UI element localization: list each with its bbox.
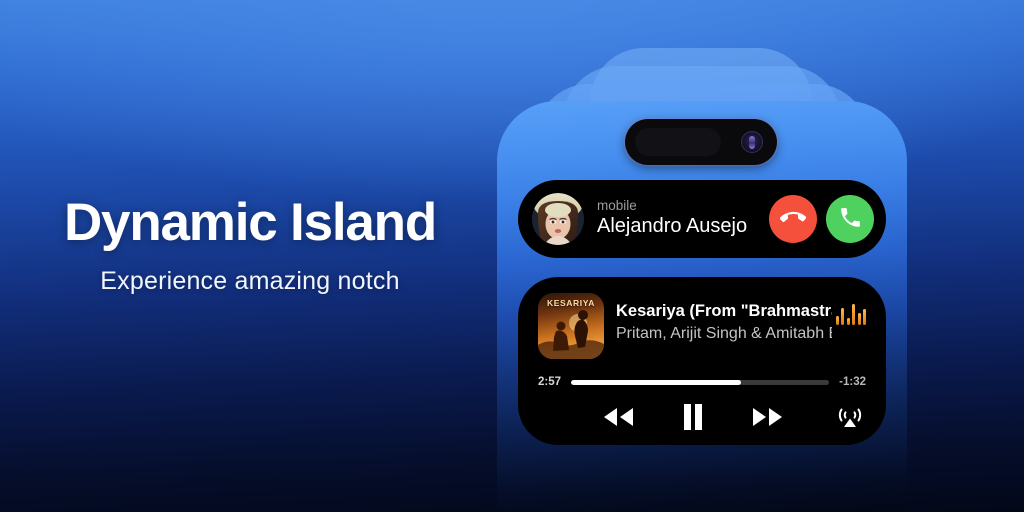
page-subtitle: Experience amazing notch (0, 269, 500, 294)
accept-call-button[interactable] (826, 195, 874, 243)
dynamic-island-banner: Dynamic Island Experience amazing notch (0, 0, 1024, 512)
elapsed-time: 2:57 (538, 376, 561, 388)
front-camera-icon (741, 131, 763, 153)
progress-bar-fill (571, 380, 741, 385)
track-meta: Kesariya (From "Brahmastra" Pritam, Arij… (616, 293, 832, 344)
album-art-title: KESARIYA (538, 298, 604, 308)
audio-waveform-icon (836, 303, 867, 325)
incoming-call-island[interactable]: mobile Alejandro Ausejo (518, 180, 886, 258)
playback-progress: 2:57 -1:32 (538, 376, 866, 388)
fast-forward-icon (750, 406, 784, 431)
phone-body: mobile Alejandro Ausejo (497, 101, 907, 512)
album-art: KESARIYA (538, 293, 604, 359)
pause-button[interactable] (682, 403, 704, 434)
decline-call-button[interactable] (769, 195, 817, 243)
track-artist: Pritam, Arijit Singh & Amitabh B (616, 324, 832, 344)
accept-phone-icon (838, 205, 863, 233)
track-title: Kesariya (From "Brahmastra" (616, 302, 832, 322)
forward-button[interactable] (750, 406, 784, 431)
caller-name: Alejandro Ausejo (597, 214, 763, 239)
progress-bar[interactable] (571, 380, 829, 385)
avatar (532, 193, 584, 245)
pause-icon (682, 403, 704, 434)
call-text-block: mobile Alejandro Ausejo (597, 199, 763, 240)
decline-phone-icon (780, 205, 806, 234)
call-actions (769, 195, 874, 243)
playback-controls (538, 403, 866, 434)
remaining-time: -1:32 (839, 376, 866, 388)
airplay-icon (836, 403, 864, 434)
rewind-button[interactable] (602, 406, 636, 431)
page-title: Dynamic Island (0, 196, 500, 249)
rewind-icon (602, 406, 636, 431)
notch-speaker-pill (635, 128, 721, 156)
airplay-button[interactable] (836, 403, 864, 434)
banner-copy: Dynamic Island Experience amazing notch (0, 196, 500, 294)
call-kind-label: mobile (597, 199, 763, 214)
phone-notch (625, 119, 777, 165)
now-playing-island[interactable]: KESARIYA Kesariya (From "Brahmastra" Pri… (518, 277, 886, 445)
now-playing-header: KESARIYA Kesariya (From "Brahmastra" Pri… (538, 293, 866, 359)
